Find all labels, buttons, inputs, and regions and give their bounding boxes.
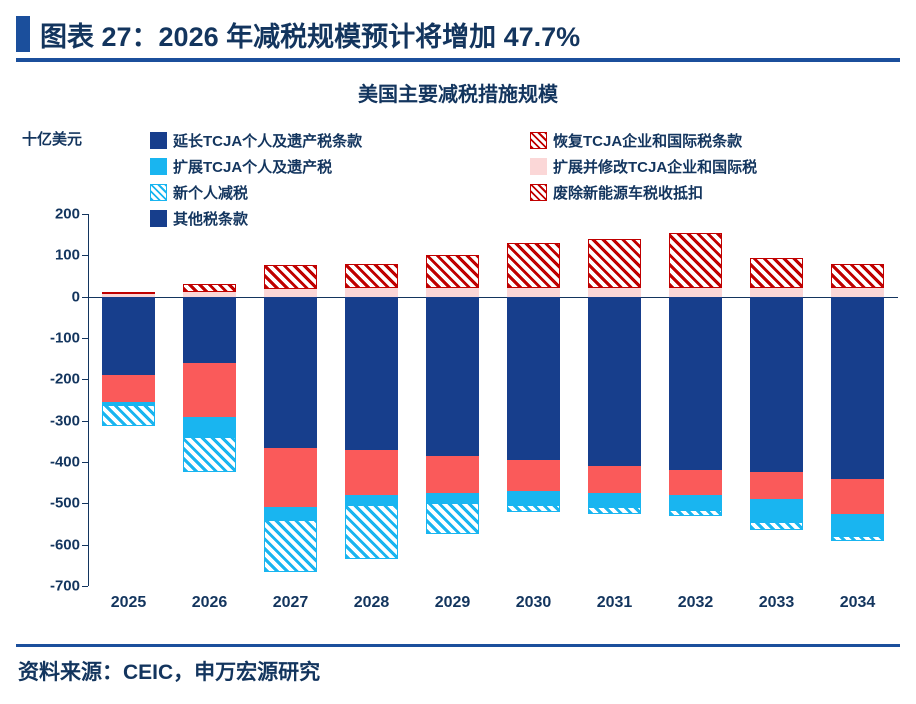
bar-column: [345, 214, 398, 586]
bar-segment-cyan: [183, 417, 236, 438]
legend-item-0: 延长TCJA个人及遗产税条款: [150, 130, 530, 151]
source-note: 资料来源：CEIC，申万宏源研究: [18, 656, 320, 686]
bar-segment-red: [507, 460, 560, 491]
bar-segment-red: [426, 456, 479, 493]
legend-label: 扩展TCJA个人及遗产税: [173, 156, 332, 177]
bar-segment-cyan: [507, 491, 560, 505]
bar-segment-redhatch: [183, 284, 236, 291]
bar-segment-navy: [750, 297, 803, 473]
legend-swatch-icon: [530, 158, 547, 175]
legend-item-2: 新个人减税: [150, 182, 530, 203]
y-axis-unit-label: 十亿美元: [22, 128, 82, 149]
bar-segment-navy: [183, 297, 236, 363]
bar-segment-redhatch: [102, 292, 155, 294]
bar-segment-cyanhatch: [264, 520, 317, 572]
bar-segment-navy: [102, 297, 155, 376]
bar-segment-cyan: [588, 493, 641, 507]
legend-swatch-icon: [530, 184, 547, 201]
bar-segment-red: [102, 375, 155, 402]
chart-title: 美国主要减税措施规模: [0, 78, 916, 107]
bar-segment-pink: [183, 292, 236, 297]
bar-segment-cyanhatch: [669, 510, 722, 516]
bar-segment-cyanhatch: [183, 437, 236, 472]
bar-segment-cyanhatch: [750, 522, 803, 530]
bar-segment-redhatch: [507, 243, 560, 288]
report-header: 图表 27：2026 年减税规模预计将增加 47.7%: [0, 8, 916, 60]
legend-swatch-icon: [150, 158, 167, 175]
bar-segment-navy: [426, 297, 479, 456]
bar-segment-red: [588, 466, 641, 493]
bar-segment-pink: [507, 288, 560, 297]
x-axis-tick-label: 2033: [736, 594, 817, 612]
legend-item-4: 恢复TCJA企业和国际税条款: [530, 130, 742, 151]
bar-segment-pink: [750, 288, 803, 297]
header-accent-bar: [16, 16, 30, 52]
legend-label: 新个人减税: [173, 182, 248, 203]
bar-segment-red: [183, 363, 236, 417]
bar-column: [102, 214, 155, 586]
bar-column: [183, 214, 236, 586]
bar-segment-redhatch: [750, 258, 803, 288]
x-axis-labels: 2025202620272028202920302031203220332034: [88, 594, 898, 620]
bar-column: [669, 214, 722, 586]
bar-segment-pink: [345, 288, 398, 296]
bar-segment-red: [831, 479, 884, 514]
bar-segment-pink: [426, 288, 479, 296]
bar-segment-red: [345, 450, 398, 495]
footer-divider: [16, 644, 900, 647]
bar-segment-cyan: [750, 499, 803, 522]
bar-segment-cyanhatch: [831, 536, 884, 540]
bar-segment-redhatch: [669, 233, 722, 288]
legend-label: 扩展并修改TCJA企业和国际税: [553, 156, 757, 177]
bar-segment-pink: [588, 288, 641, 297]
bar-segment-cyan: [669, 495, 722, 509]
bar-segment-redhatch: [345, 264, 398, 289]
bar-segment-navy: [669, 297, 722, 471]
bar-segment-navy: [507, 297, 560, 460]
bar-segment-cyanhatch: [507, 505, 560, 511]
bar-column: [588, 214, 641, 586]
legend-row: 新个人减税 废除新能源车税收抵扣: [150, 182, 900, 203]
legend-row: 延长TCJA个人及遗产税条款 恢复TCJA企业和国际税条款: [150, 130, 900, 151]
bar-segment-cyan: [345, 495, 398, 505]
x-axis-tick-label: 2025: [88, 594, 169, 612]
bar-column: [831, 214, 884, 586]
bar-column: [507, 214, 560, 586]
legend-row: 扩展TCJA个人及遗产税 扩展并修改TCJA企业和国际税: [150, 156, 900, 177]
legend-item-6: 废除新能源车税收抵扣: [530, 182, 703, 203]
bar-segment-cyanhatch: [102, 405, 155, 426]
legend-label: 恢复TCJA企业和国际税条款: [553, 130, 742, 151]
bar-segment-redhatch: [831, 264, 884, 287]
legend-label: 延长TCJA个人及遗产税条款: [173, 130, 362, 151]
bar-column: [750, 214, 803, 586]
legend-swatch-icon: [150, 132, 167, 149]
bar-segment-navy: [588, 297, 641, 466]
legend-swatch-icon: [150, 184, 167, 201]
bar-segment-navy: [831, 297, 884, 479]
bar-segment-cyanhatch: [345, 505, 398, 559]
x-axis-tick-label: 2026: [169, 594, 250, 612]
bar-segment-pink: [831, 288, 884, 297]
y-axis-tick-mark: [82, 586, 88, 587]
bar-segment-redhatch: [426, 255, 479, 288]
bar-segment-cyan: [426, 493, 479, 503]
legend-swatch-icon: [530, 132, 547, 149]
bar-column: [426, 214, 479, 586]
bar-segment-red: [750, 472, 803, 499]
bar-segment-cyan: [264, 507, 317, 519]
bar-segment-navy: [264, 297, 317, 448]
x-axis-tick-label: 2030: [493, 594, 574, 612]
x-axis-tick-label: 2034: [817, 594, 898, 612]
bar-series-container: [88, 214, 898, 586]
bar-segment-pink: [264, 289, 317, 296]
x-axis-tick-label: 2032: [655, 594, 736, 612]
bar-segment-cyanhatch: [426, 503, 479, 534]
page-title: 图表 27：2026 年减税规模预计将增加 47.7%: [40, 15, 580, 54]
bar-segment-cyanhatch: [588, 507, 641, 513]
legend-item-1: 扩展TCJA个人及遗产税: [150, 156, 530, 177]
bar-segment-navy: [345, 297, 398, 450]
x-axis-tick-label: 2027: [250, 594, 331, 612]
x-axis-tick-label: 2029: [412, 594, 493, 612]
bar-segment-redhatch: [588, 239, 641, 288]
bar-segment-cyan: [831, 514, 884, 537]
bar-segment-red: [264, 448, 317, 508]
chart-plot-area: 2001000-100-200-300-400-500-600-700: [88, 214, 898, 586]
bar-segment-pink: [669, 288, 722, 297]
x-axis-tick-label: 2028: [331, 594, 412, 612]
legend-label: 废除新能源车税收抵扣: [553, 182, 703, 203]
x-axis-tick-label: 2031: [574, 594, 655, 612]
legend-item-5: 扩展并修改TCJA企业和国际税: [530, 156, 757, 177]
bar-segment-redhatch: [264, 265, 317, 289]
header-divider: [16, 58, 900, 62]
bar-segment-red: [669, 470, 722, 495]
bar-column: [264, 214, 317, 586]
